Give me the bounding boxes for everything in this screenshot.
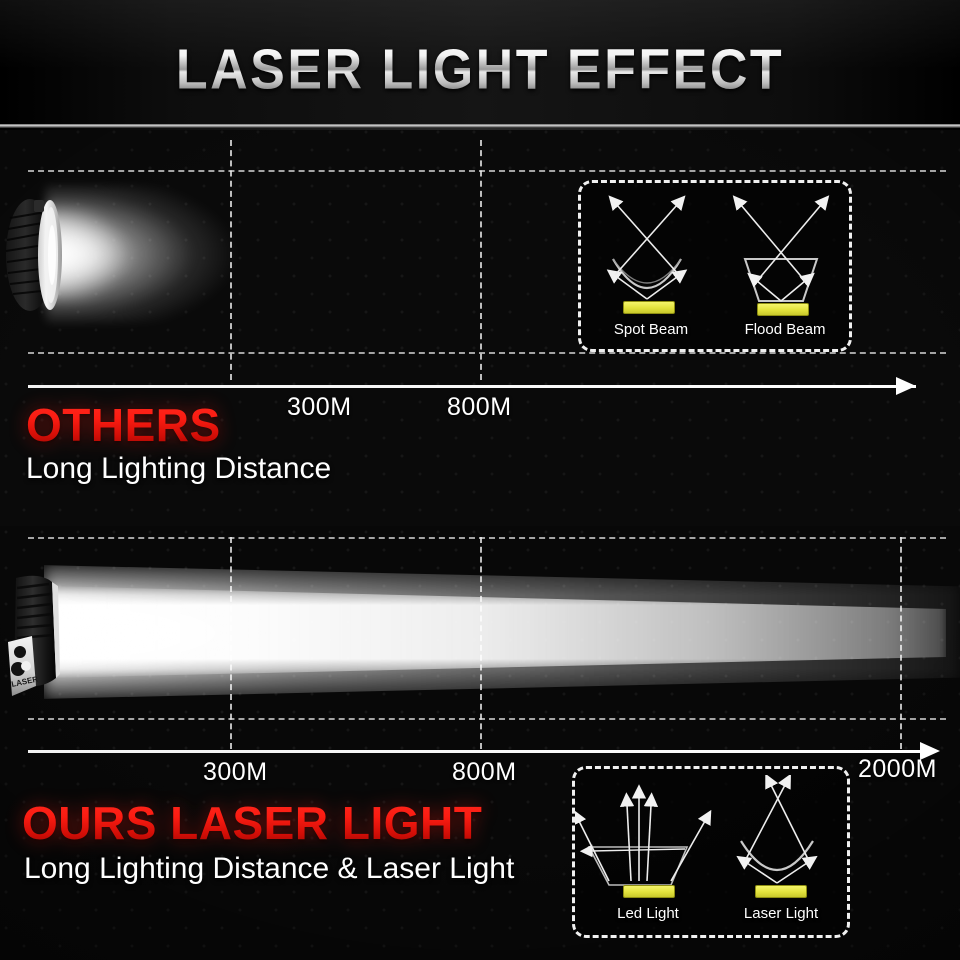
subhead-ours: Long Lighting Distance & Laser Light	[24, 852, 514, 886]
led-chip-spot	[623, 301, 675, 314]
axis-others	[28, 385, 916, 388]
led-chip-laser-light	[755, 885, 807, 898]
laser-light-pod-icon: LASER	[2, 570, 80, 702]
grid-hline-bottom	[28, 537, 946, 539]
grid-vline-ours-2000m	[900, 537, 902, 749]
grid-hline-top	[28, 170, 946, 172]
beam-label-laser-light: Laser Light	[645, 905, 917, 922]
distance-label-others-800m: 800M	[447, 393, 512, 422]
led-chip-flood	[757, 303, 809, 316]
grid-hline-bottom-2	[28, 718, 946, 720]
headline-others: OTHERS	[26, 398, 221, 452]
beam-label-flood: Flood Beam	[651, 321, 919, 338]
grid-vline-ours-800m	[480, 537, 482, 749]
subhead-others: Long Lighting Distance	[26, 452, 331, 486]
grid-vline-others-300m	[230, 140, 232, 380]
title-bar: LASER LIGHT EFFECT	[0, 0, 960, 126]
beam-type-diagram-top	[581, 189, 843, 321]
grid-hline-top-2	[28, 352, 946, 354]
round-headlight-icon	[4, 196, 70, 314]
axis-ours	[28, 750, 934, 753]
grid-vline-ours-300m	[230, 537, 232, 749]
title-divider-shadow	[0, 128, 960, 130]
light-fixture-ours: LASER	[2, 570, 80, 702]
beam-type-panel-bottom: Led Light Laser Light	[572, 766, 850, 938]
page-title: LASER LIGHT EFFECT	[0, 38, 960, 103]
distance-label-ours-800m: 800M	[452, 758, 517, 787]
grid-vline-others-800m	[480, 140, 482, 380]
beam-type-panel-top: Spot Beam Flood Beam	[578, 180, 852, 352]
headline-ours: OURS LASER LIGHT	[22, 796, 482, 850]
infographic-root: LASER LIGHT EFFECT	[0, 0, 960, 960]
led-chip-led-light	[623, 885, 675, 898]
axis-arrow-others	[896, 377, 916, 395]
distance-label-ours-2000m: 2000M	[858, 755, 937, 784]
distance-label-others-300m: 300M	[287, 393, 352, 422]
light-fixture-others	[4, 196, 70, 314]
distance-label-ours-300m: 300M	[203, 758, 268, 787]
